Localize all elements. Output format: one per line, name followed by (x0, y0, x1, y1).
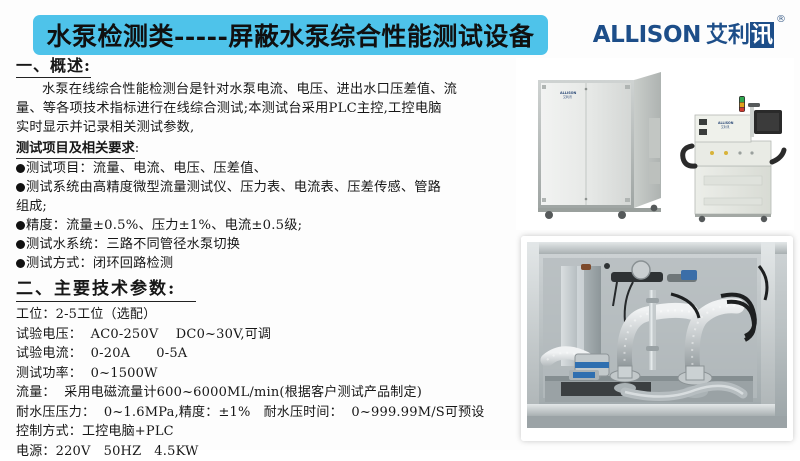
test-station-unit: ALLISON 艾利讯 (683, 96, 784, 222)
bullet-text: 测试水系统：三路不同管径水泵切换 (26, 237, 240, 252)
bullet-text: 精度：流量±0.5%、压力±1%、电流±0.5级; (26, 218, 302, 233)
spec-row: 试验电压： AC0-250V DC0~30V,可调 (16, 325, 516, 345)
registered-trademark-icon: ® (776, 15, 786, 25)
bullet-dot-icon (16, 164, 25, 173)
section2-heading: 二、主要技术参数: (16, 278, 196, 302)
cabinet-unit: ALLISON 艾利讯 (538, 72, 661, 219)
bullet-text: 测试系统由高精度微型流量测试仪、压力表、电流表、压差传感、管路 (26, 180, 441, 195)
spec-row: 电源：220V 50HZ 4.5KW (16, 442, 516, 461)
overview-line-1: 水泵在线综合性能检测台是针对水泵电流、电压、进出水口压差值、流 (16, 80, 516, 99)
svg-text:艾利讯: 艾利讯 (563, 94, 572, 99)
overview-line-2: 量、等各项技术指标进行在线综合测试;本测试台采用PLC主控,工控电脑 (16, 99, 516, 118)
bullet-item: 测试系统由高精度微型流量测试仪、压力表、电流表、压差传感、管路 (16, 178, 516, 197)
bullet-dot-icon (16, 221, 25, 230)
spec-row: 耐水压压力： 0~1.6MPa,精度：±1% 耐水压时间： 0~999.99M/… (16, 403, 516, 423)
bullet-text: 测试方式：闭环回路检测 (26, 256, 173, 271)
spec-row: 控制方式：工控电脑+PLC (16, 422, 516, 442)
title-banner: 水泵检测类-----屏蔽水泵综合性能测试设备 (33, 15, 548, 55)
page-title: 水泵检测类-----屏蔽水泵综合性能测试设备 (47, 17, 535, 53)
logo-text-english: ALLISON (593, 24, 701, 47)
spec-row: 工位：2-5工位（选配） (16, 305, 516, 325)
logo-cn-part-b: 讯 (750, 22, 774, 48)
slide-root: 水泵检测类-----屏蔽水泵综合性能测试设备 ALLISON 艾利讯 ® 一、概… (0, 0, 800, 450)
content-column: 一、概述: 水泵在线综合性能检测台是针对水泵电流、电压、进出水口压差值、流 量、… (16, 56, 516, 461)
bullet-text: 测试项目：流量、电流、电压、压差值、 (26, 161, 267, 176)
test-items-subheading: 测试项目及相关要求 (16, 140, 135, 159)
bullet-dot-icon (16, 259, 25, 268)
equipment-photo: ALLISON 艾利讯 ALLISON (516, 58, 794, 230)
spec-row: 试验电流： 0-20A 0-5A (16, 344, 516, 364)
section1-heading: 一、概述: (16, 56, 91, 78)
bullet-item: 测试水系统：三路不同管径水泵切换 (16, 235, 516, 254)
section2-block: 二、主要技术参数: 工位：2-5工位（选配） 试验电压： AC0-250V DC… (16, 278, 516, 461)
bullet-continuation: 组成; (16, 197, 516, 216)
spec-row: 流量： 采用电磁流量计600~6000ML/min(根据客户测试产品制定) (16, 383, 516, 403)
brand-logo: ALLISON 艾利讯 ® (593, 24, 786, 47)
bullet-item: 测试项目：流量、电流、电压、压差值、 (16, 159, 516, 178)
bullet-item: 精度：流量±0.5%、压力±1%、电流±0.5级; (16, 216, 516, 235)
bullet-item: 测试方式：闭环回路检测 (16, 254, 516, 273)
test-items-subheading-colon: : (135, 141, 139, 156)
svg-text:艾利讯: 艾利讯 (721, 125, 730, 129)
internal-piping-photo (521, 236, 793, 441)
bullet-dot-icon (16, 183, 25, 192)
overview-line-3: 实时显示并记录相关测试参数, (16, 118, 516, 137)
logo-cn-part-a: 艾利 (706, 22, 750, 48)
bullet-dot-icon (16, 240, 25, 249)
test-items-subheading-row: 测试项目及相关要求: (16, 137, 516, 159)
spec-row: 测试功率： 0~1500W (16, 364, 516, 384)
logo-text-chinese: 艾利讯 (706, 24, 774, 46)
